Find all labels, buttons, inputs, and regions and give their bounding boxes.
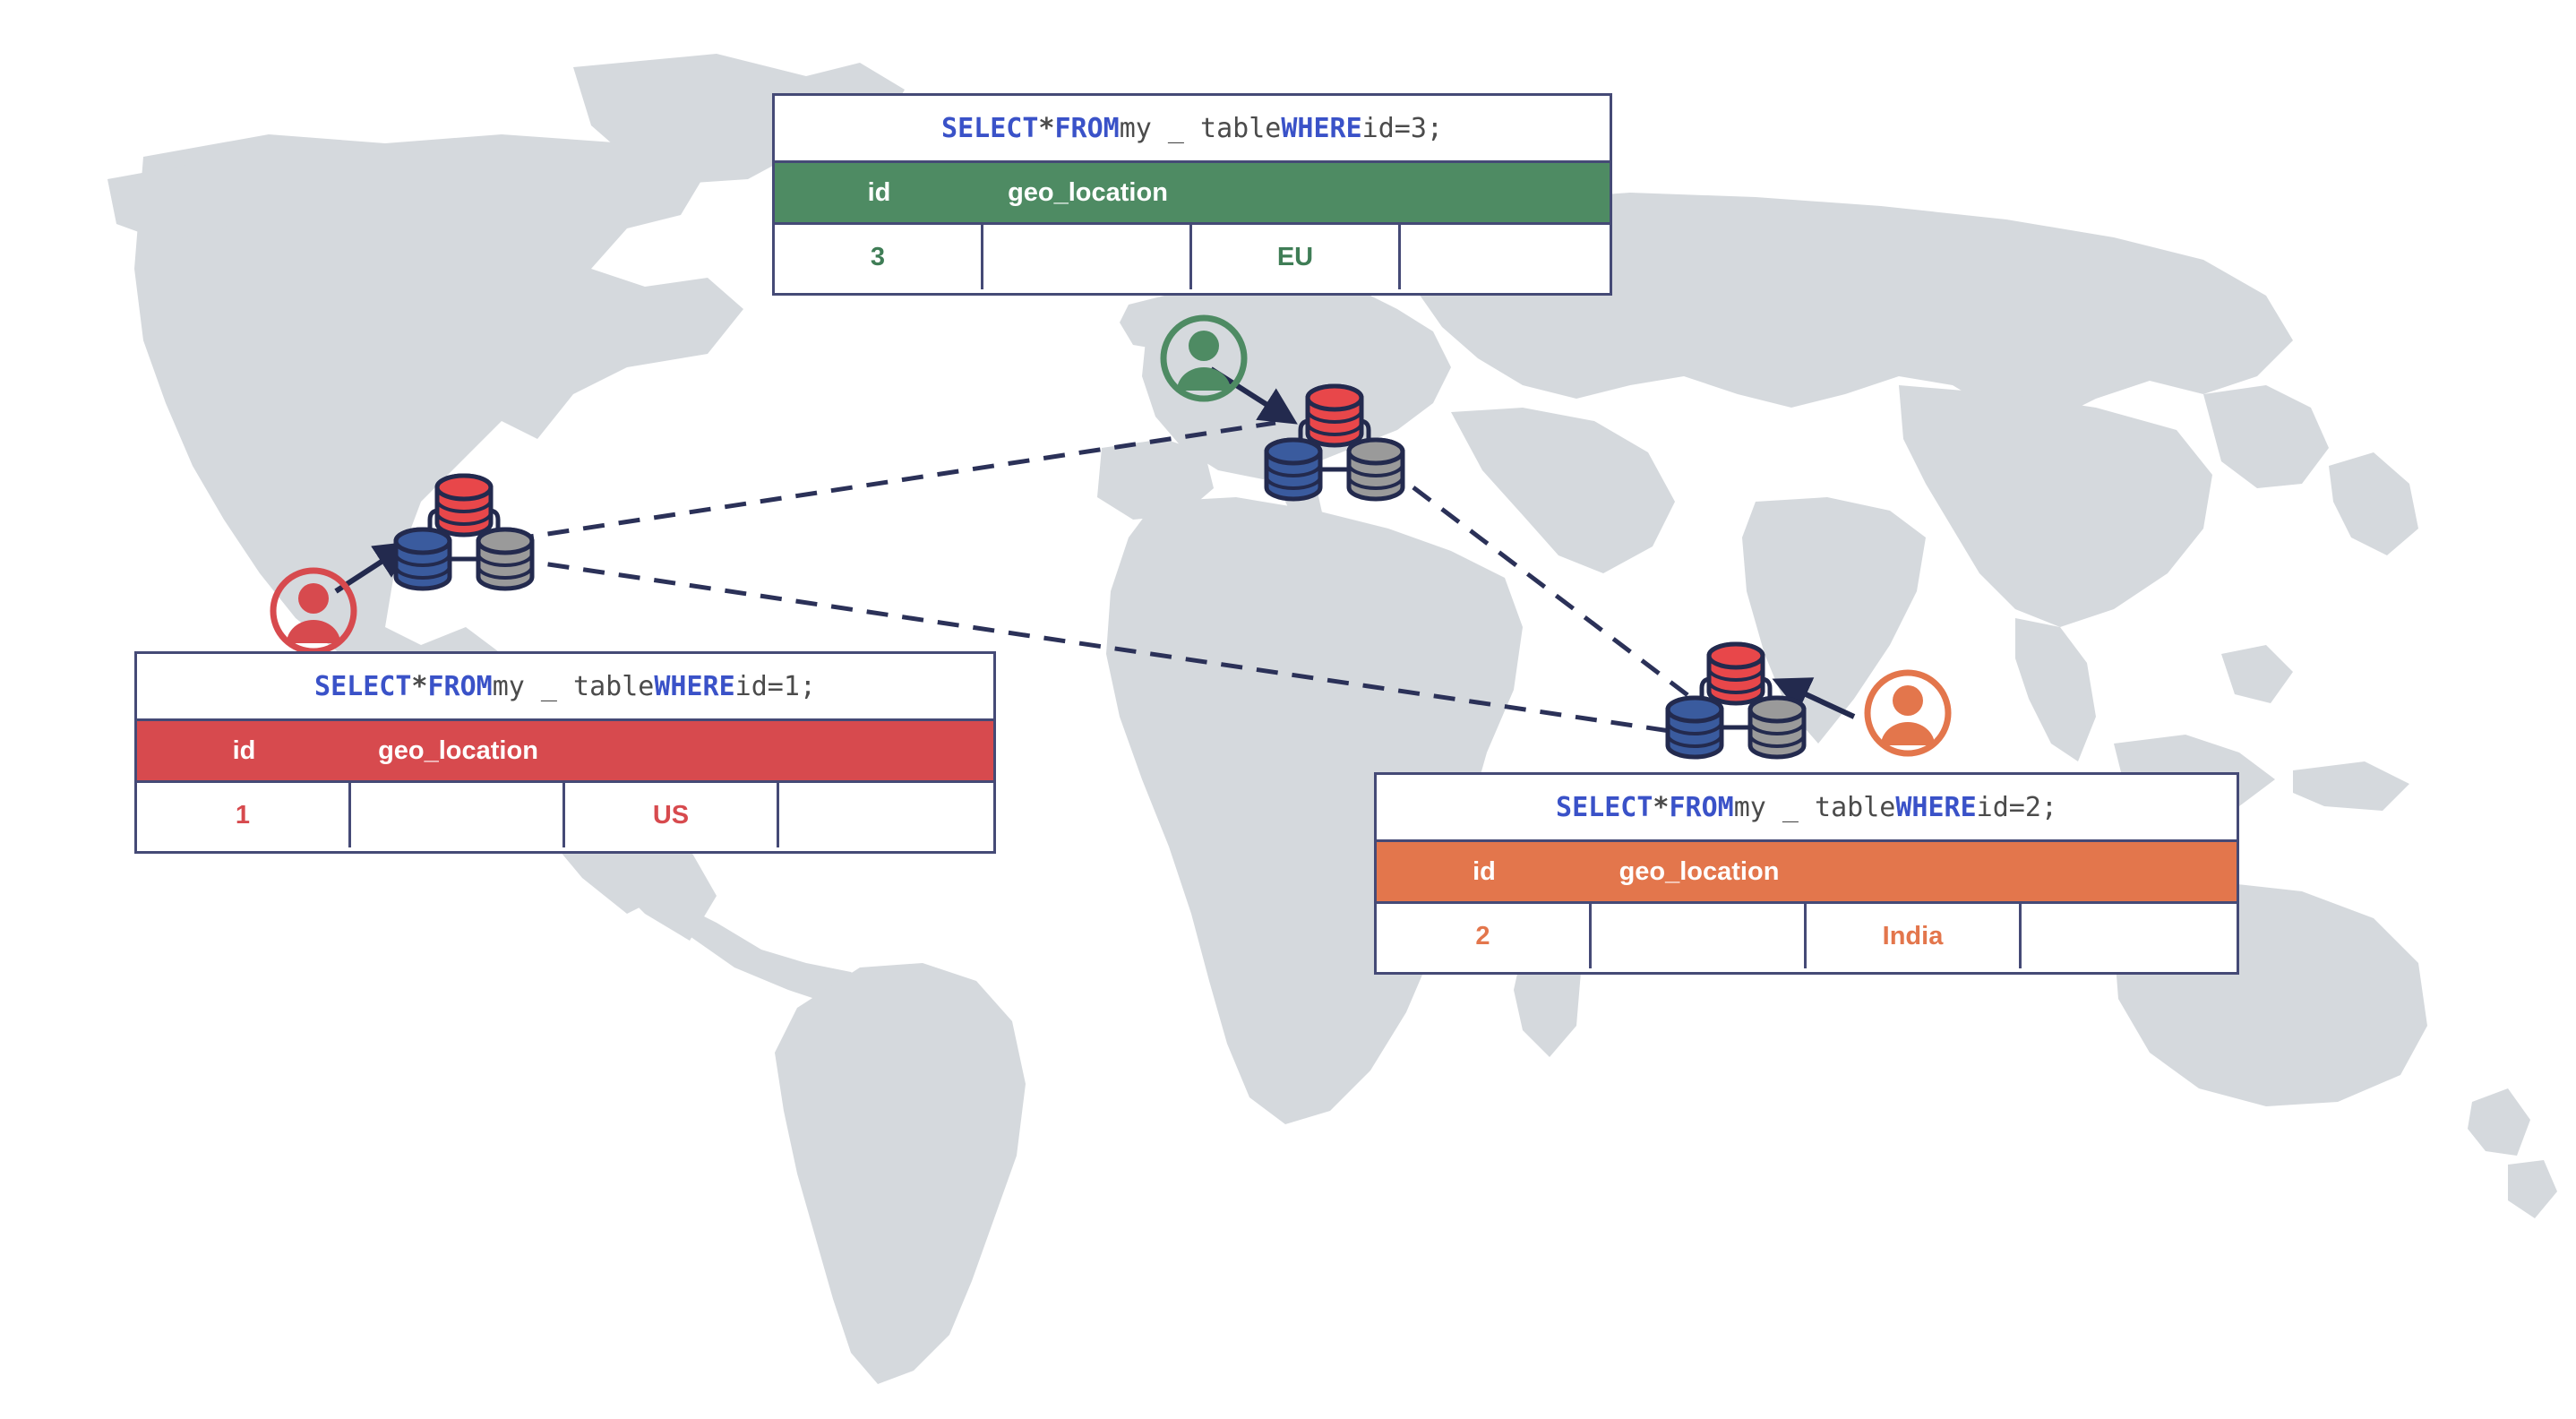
cell-blank-1 [351,783,565,847]
sql-star: * [411,671,427,702]
sql-keyword-from: FROM [1669,792,1733,823]
cell-geo-location: EU [1192,225,1401,289]
sql-keyword-where: WHERE [1281,113,1361,144]
sql-query-us: SELECT * FROM my _ table WHERE id=1; [137,654,993,718]
sql-keyword-where: WHERE [654,671,734,702]
column-header-geo-location: geo_location [1592,842,1807,901]
sql-star: * [1038,113,1054,144]
database-cluster-icon-eu[interactable] [1254,369,1415,512]
sql-table-name: my _ table [1734,792,1896,823]
column-header-blank-2 [2022,842,2237,901]
sql-keyword-select: SELECT [1556,792,1653,823]
query-result-card-us[interactable]: SELECT * FROM my _ table WHERE id=1; id … [134,651,996,854]
sql-predicate: id=3; [1362,113,1443,144]
cell-blank-1 [1592,904,1807,968]
cell-id: 2 [1377,904,1592,968]
cell-geo-location: India [1807,904,2022,968]
database-cluster-icon-us[interactable] [383,459,545,602]
sql-keyword-from: FROM [427,671,492,702]
db-node-gray [478,529,532,589]
column-header-blank-2 [1401,163,1610,222]
sql-predicate: id=2; [1977,792,2057,823]
sql-star: * [1653,792,1669,823]
column-header-blank-2 [779,721,993,780]
column-header-geo-location: geo_location [983,163,1192,222]
cell-blank-2 [1401,225,1610,289]
user-avatar-icon-eu[interactable] [1157,312,1250,405]
sql-table-name: my _ table [1120,113,1282,144]
table-row-india: 2 India [1377,904,2237,968]
cell-id: 1 [137,783,351,847]
column-header-blank-1 [565,721,779,780]
user-avatar-icon-india[interactable] [1861,666,1954,760]
table-header-eu: id geo_location [775,160,1610,225]
sql-predicate: id=1; [735,671,816,702]
cell-blank-2 [2022,904,2237,968]
table-row-us: 1 US [137,783,993,847]
sql-table-name: my _ table [493,671,655,702]
column-header-id: id [137,721,351,780]
table-header-us: id geo_location [137,718,993,783]
db-node-red [1709,644,1763,703]
db-node-gray [1750,698,1804,757]
sql-keyword-where: WHERE [1895,792,1976,823]
database-cluster-icon-india[interactable] [1655,627,1816,770]
column-header-blank-1 [1192,163,1401,222]
column-header-blank-1 [1807,842,2022,901]
diagram-canvas: SELECT * FROM my _ table WHERE id=3; id … [0,0,2576,1419]
column-header-id: id [775,163,983,222]
sql-query-eu: SELECT * FROM my _ table WHERE id=3; [775,96,1610,160]
cell-id: 3 [775,225,983,289]
query-result-card-eu[interactable]: SELECT * FROM my _ table WHERE id=3; id … [772,93,1612,296]
table-header-india: id geo_location [1377,839,2237,904]
sql-keyword-select: SELECT [941,113,1038,144]
db-node-red [1308,386,1361,445]
cell-blank-1 [983,225,1192,289]
db-node-blue [1668,698,1722,757]
db-node-blue [1267,440,1320,499]
db-node-red [437,476,491,535]
sql-query-india: SELECT * FROM my _ table WHERE id=2; [1377,775,2237,839]
db-node-blue [396,529,450,589]
column-header-id: id [1377,842,1592,901]
table-row-eu: 3 EU [775,225,1610,289]
query-result-card-india[interactable]: SELECT * FROM my _ table WHERE id=2; id … [1374,772,2239,975]
cell-blank-2 [779,783,993,847]
sql-keyword-select: SELECT [314,671,411,702]
sql-keyword-from: FROM [1054,113,1119,144]
cell-geo-location: US [565,783,779,847]
user-avatar-icon-us[interactable] [267,564,360,658]
db-node-gray [1349,440,1403,499]
column-header-geo-location: geo_location [351,721,565,780]
